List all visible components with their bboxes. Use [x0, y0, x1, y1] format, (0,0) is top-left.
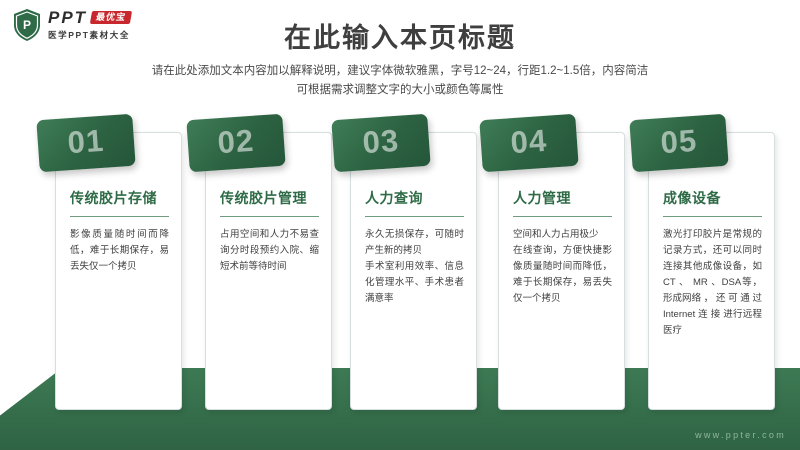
card-number-tab: 05	[629, 114, 728, 173]
card-body: 占用空间和人力不易查询分时段预约入院、缩短术前等待时间	[220, 227, 319, 275]
card-title: 传统胶片管理	[220, 189, 319, 207]
info-card[interactable]: 01 传统胶片存储 影像质量随时间而降低，难于长期保存，易丢失仅一个拷贝	[55, 132, 182, 410]
card-number-tab: 01	[36, 114, 135, 173]
card-number: 01	[66, 123, 105, 161]
card-divider	[365, 216, 464, 217]
info-card[interactable]: 02 传统胶片管理 占用空间和人力不易查询分时段预约入院、缩短术前等待时间	[205, 132, 332, 410]
card-row: 01 传统胶片存储 影像质量随时间而降低，难于长期保存，易丢失仅一个拷贝 02 …	[0, 110, 800, 410]
page-subtitle: 请在此处添加文本内容加以解释说明，建议字体微软雅黑，字号12~24，行距1.2~…	[0, 62, 800, 100]
info-card[interactable]: 04 人力管理 空间和人力占用极少 在线查询，方便快捷影像质量随时间而降低，难于…	[498, 132, 625, 410]
card-divider	[513, 216, 612, 217]
card-number: 03	[361, 123, 400, 161]
info-card[interactable]: 03 人力查询 永久无损保存，可随时产生新的拷贝 手术室利用效率、信息化管理水平…	[350, 132, 477, 410]
card-title: 人力查询	[365, 189, 464, 207]
page-title: 在此输入本页标题	[0, 16, 800, 55]
card-title: 人力管理	[513, 189, 612, 207]
card-divider	[220, 216, 319, 217]
card-number: 02	[216, 123, 255, 161]
card-body: 影像质量随时间而降低，难于长期保存，易丢失仅一个拷贝	[70, 227, 169, 275]
card-number-tab: 04	[479, 114, 578, 173]
subtitle-line-2: 可根据需求调整文字的大小或颜色等属性	[0, 81, 800, 100]
card-title: 成像设备	[663, 189, 762, 207]
card-number: 04	[509, 123, 548, 161]
card-divider	[663, 216, 762, 217]
card-body: 永久无损保存，可随时产生新的拷贝 手术室利用效率、信息化管理水平、手术患者满意率	[365, 227, 464, 307]
card-title: 传统胶片存储	[70, 189, 169, 207]
subtitle-line-1: 请在此处添加文本内容加以解释说明，建议字体微软雅黑，字号12~24，行距1.2~…	[0, 62, 800, 81]
card-divider	[70, 216, 169, 217]
card-body: 空间和人力占用极少 在线查询，方便快捷影像质量随时间而降低，难于长期保存，易丢失…	[513, 227, 612, 307]
info-card[interactable]: 05 成像设备 激光打印胶片是常规的记录方式，还可以同时连接其他成像设备，如 C…	[648, 132, 775, 410]
footer-url: www.ppter.com	[695, 430, 786, 440]
card-number-tab: 03	[331, 114, 430, 173]
card-number-tab: 02	[186, 114, 285, 173]
card-number: 05	[659, 123, 698, 161]
card-body: 激光打印胶片是常规的记录方式，还可以同时连接其他成像设备，如 CT 、 MR 、…	[663, 227, 762, 339]
